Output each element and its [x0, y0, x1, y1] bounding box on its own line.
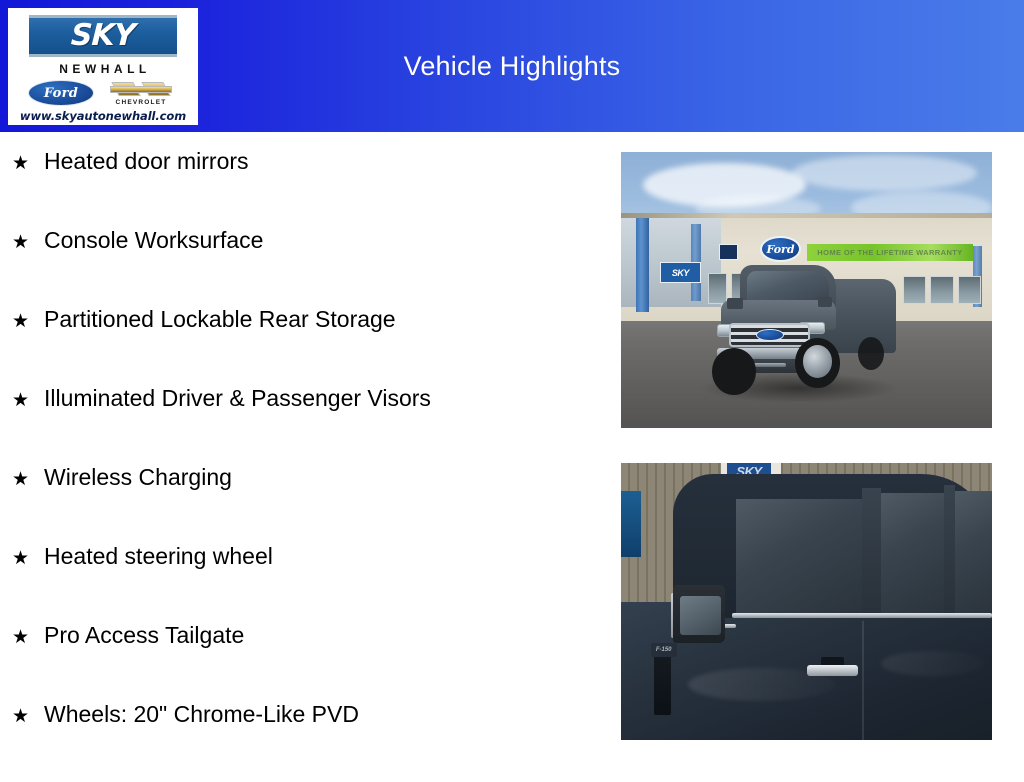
door-mirror-glass [680, 596, 721, 635]
cloud-shape [792, 155, 978, 191]
star-icon: ★ [12, 707, 44, 726]
star-icon: ★ [12, 549, 44, 568]
front-door-window [736, 499, 862, 618]
list-item: ★ Console Worksurface [12, 229, 612, 308]
chevrolet-badge: CHEVROLET [104, 81, 178, 106]
ford-f150-truck [706, 262, 892, 400]
sky-logo-plate: SKY [29, 15, 177, 57]
ford-wordmark: Ford [44, 87, 78, 100]
sky-wordmark: SKY [70, 21, 135, 51]
feature-label: Wheels: 20" Chrome-Like PVD [44, 703, 359, 726]
secondary-building-sign [719, 244, 738, 259]
feature-label: Wireless Charging [44, 466, 232, 489]
truck-mirror [727, 298, 744, 309]
list-item: ★ Heated door mirrors [12, 150, 612, 229]
building-roofline [621, 213, 992, 218]
window-chrome-trim [732, 613, 992, 619]
door-seam [862, 621, 863, 740]
feature-label: Partitioned Lockable Rear Storage [44, 308, 396, 331]
ford-badge-icon [756, 329, 784, 341]
truck-windshield [747, 271, 829, 304]
truck-rear-wheel-far [858, 337, 884, 370]
b-pillar [862, 488, 881, 618]
star-icon: ★ [12, 470, 44, 489]
list-item: ★ Heated steering wheel [12, 545, 612, 624]
star-icon: ★ [12, 233, 44, 252]
vehicle-door-detail-photo[interactable]: SKY F-150 [621, 463, 992, 740]
star-icon: ★ [12, 312, 44, 331]
truck-front-wheel [712, 348, 757, 395]
rear-door-window [881, 493, 944, 618]
list-item: ★ Wireless Charging [12, 466, 612, 545]
c-pillar [944, 485, 955, 618]
body-reflection [881, 651, 985, 676]
body-reflection [688, 668, 836, 701]
feature-label: Heated steering wheel [44, 545, 273, 568]
sky-building-sign: SKY [660, 262, 701, 283]
ford-oval-icon: Ford [28, 80, 94, 106]
feature-label: Heated door mirrors [44, 150, 249, 173]
list-item: ★ Wheels: 20" Chrome-Like PVD [12, 703, 612, 782]
vehicle-highlights-list: ★ Heated door mirrors ★ Console Worksurf… [12, 150, 612, 782]
banner-text: HOME OF THE LIFETIME WARRANTY [817, 248, 962, 257]
list-item: ★ Partitioned Lockable Rear Storage [12, 308, 612, 387]
chevrolet-wordmark: CHEVROLET [116, 99, 167, 106]
star-icon: ★ [12, 391, 44, 410]
star-icon: ★ [12, 154, 44, 173]
rear-quarter-window [955, 491, 992, 618]
dealer-website-url[interactable]: www.skyautonewhall.com [20, 109, 186, 123]
list-item: ★ Illuminated Driver & Passenger Visors [12, 387, 612, 466]
feature-label: Console Worksurface [44, 229, 263, 252]
dealer-location-label: NEWHALL [55, 62, 151, 76]
fender-vent [654, 654, 671, 715]
chevrolet-bowtie-icon [110, 81, 172, 98]
wall-blue-panel [621, 491, 641, 557]
ford-sign-wordmark: Ford [767, 243, 795, 256]
feature-label: Illuminated Driver & Passenger Visors [44, 387, 431, 410]
feature-label: Pro Access Tailgate [44, 624, 244, 647]
list-item: ★ Pro Access Tailgate [12, 624, 612, 703]
showroom-windows [903, 276, 981, 304]
dealer-logo[interactable]: SKY NEWHALL Ford CHEVROLET www.skyautone… [8, 8, 198, 125]
f150-badge: F-150 [651, 643, 677, 657]
truck-mirror [818, 297, 833, 307]
canopy-pillar [636, 218, 649, 312]
star-icon: ★ [12, 628, 44, 647]
vehicle-exterior-photo[interactable]: SKY Ford HOME OF THE LIFETIME WARRANTY [621, 152, 992, 428]
lifetime-warranty-banner: HOME OF THE LIFETIME WARRANTY [807, 244, 974, 261]
franchise-badges: Ford CHEVROLET [28, 80, 178, 106]
